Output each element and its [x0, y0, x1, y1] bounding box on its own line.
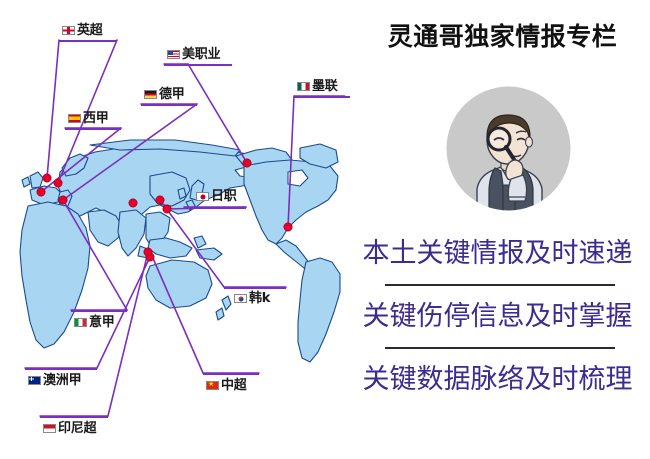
feature-divider-1 [385, 284, 615, 286]
league-label-澳洲甲[interactable]: 澳洲甲 [28, 374, 81, 387]
league-label-text: 西甲 [83, 112, 109, 125]
league-label-韩k[interactable]: 韩k [234, 292, 270, 305]
feature-line-1: 本土关键情报及时速递 [345, 240, 650, 267]
connector-line [47, 40, 59, 178]
league-label-德甲[interactable]: 德甲 [144, 88, 185, 101]
info-panel: 灵通哥独家情报专栏 [345, 0, 650, 459]
map-dot-墨联[interactable] [284, 223, 292, 231]
map-dot-中超[interactable] [129, 199, 137, 207]
label-underline-德甲 [141, 104, 197, 106]
league-label-text: 澳洲甲 [43, 374, 81, 387]
map-landmasses [20, 140, 340, 362]
flag-icon-美职业 [167, 50, 180, 59]
flag-icon-中超 [206, 381, 219, 390]
league-label-text: 德甲 [159, 88, 185, 101]
league-label-意甲[interactable]: 意甲 [74, 316, 115, 329]
feature-line-2: 关键伤停信息及时掌握 [345, 303, 650, 330]
league-label-西甲[interactable]: 西甲 [68, 112, 109, 125]
league-label-text: 中超 [221, 379, 247, 392]
label-underline-西甲 [65, 128, 121, 130]
flag-icon-澳洲甲 [28, 376, 41, 385]
flag-icon-德甲 [144, 90, 157, 99]
label-underline-印尼超 [40, 416, 108, 418]
map-dot-印尼超[interactable] [144, 248, 152, 256]
flag-icon-印尼超 [43, 424, 56, 433]
label-underline-英超 [59, 40, 117, 42]
poster-root: 英超美职业德甲墨联西甲日职韩k意甲澳洲甲中超印尼超 灵通哥独家情报专栏 [0, 0, 650, 459]
league-label-日职[interactable]: 日职 [196, 190, 237, 203]
map-dot-美职业[interactable] [243, 159, 251, 167]
flag-icon-意甲 [74, 318, 87, 327]
flag-icon-日职 [196, 192, 209, 201]
map-dot-日职[interactable] [163, 205, 171, 213]
feature-line-3: 关键数据脉络及时梳理 [345, 366, 650, 393]
avatar [445, 85, 572, 212]
map-dot-西甲[interactable] [37, 188, 45, 196]
label-underline-韩k [224, 287, 286, 289]
feature-divider-2 [385, 347, 615, 349]
league-label-印尼超[interactable]: 印尼超 [43, 422, 96, 435]
league-label-text: 美职业 [182, 48, 220, 61]
label-underline-意甲 [71, 310, 127, 312]
label-underline-澳洲甲 [25, 368, 97, 370]
league-label-text: 意甲 [89, 316, 115, 329]
flag-icon-西甲 [68, 114, 81, 123]
league-label-美职业[interactable]: 美职业 [167, 48, 220, 61]
map-dot-意甲[interactable] [59, 196, 67, 204]
map-dot-德甲[interactable] [54, 179, 62, 187]
world-map-svg [0, 0, 345, 459]
label-underline-美职业 [164, 64, 232, 66]
league-label-text: 日职 [211, 190, 237, 203]
league-label-text: 墨联 [312, 80, 338, 93]
avatar-illustration [445, 85, 572, 212]
league-label-墨联[interactable]: 墨联 [297, 80, 338, 93]
league-label-text: 韩k [249, 292, 270, 305]
label-underline-中超 [203, 373, 259, 375]
label-underline-墨联 [294, 96, 350, 98]
league-label-中超[interactable]: 中超 [206, 379, 247, 392]
page-title: 灵通哥独家情报专栏 [375, 24, 630, 49]
league-label-text: 英超 [77, 24, 103, 37]
flag-icon-英超 [62, 26, 75, 35]
flag-icon-墨联 [297, 82, 310, 91]
flag-icon-韩k [234, 294, 247, 303]
label-underline-日职 [184, 207, 246, 209]
world-map-panel: 英超美职业德甲墨联西甲日职韩k意甲澳洲甲中超印尼超 [0, 0, 345, 459]
league-label-text: 印尼超 [58, 422, 96, 435]
map-dot-英超[interactable] [43, 174, 51, 182]
league-label-英超[interactable]: 英超 [62, 24, 103, 37]
map-dot-韩k[interactable] [156, 196, 164, 204]
